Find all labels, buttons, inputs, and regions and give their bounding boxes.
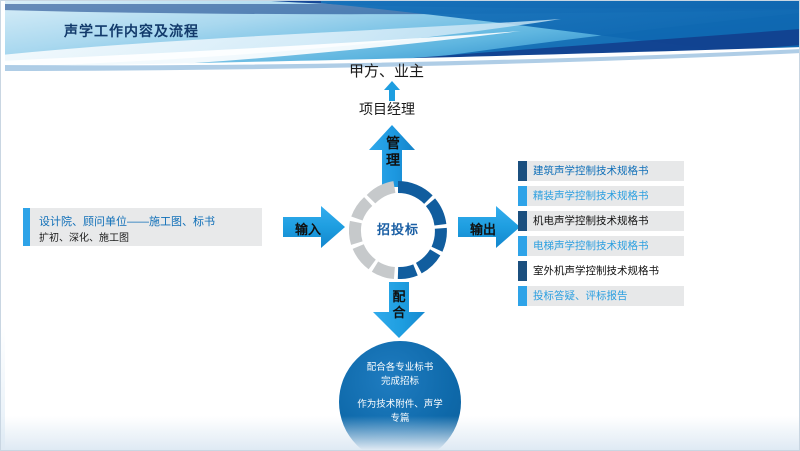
input-arrow-label: 输入 (286, 219, 330, 238)
output-list-item[interactable]: 精装声学控制技术规格书 (518, 186, 684, 206)
page-title: 声学工作内容及流程 (64, 21, 199, 41)
donut-center-label: 招投标 (349, 219, 447, 238)
output-item-marker-icon (518, 286, 527, 306)
output-list-item[interactable]: 电梯声学控制技术规格书 (518, 236, 684, 256)
output-list-item[interactable]: 室外机声学控制技术规格书 (518, 261, 684, 281)
output-item-marker-icon (518, 211, 527, 231)
output-item-label: 投标答疑、评标报告 (527, 286, 684, 306)
cooperation-line-4: 专篇 (390, 413, 409, 424)
input-card-line-2: 扩初、深化、施工图 (39, 229, 129, 244)
output-item-label: 电梯声学控制技术规格书 (527, 236, 684, 256)
management-arrow-label: 管理 (384, 135, 402, 169)
output-item-label: 建筑声学控制技术规格书 (527, 161, 684, 181)
cooperation-line-2: 完成招标 (381, 376, 419, 387)
cooperation-result-text: 配合各专业标书 完成招标 作为技术附件、声学 专篇 (339, 361, 461, 426)
output-item-marker-icon (518, 261, 527, 281)
input-card-line-1: 设计院、顾问单位——施工图、标书 (39, 213, 215, 229)
output-item-label: 室外机声学控制技术规格书 (527, 261, 684, 281)
output-item-marker-icon (518, 186, 527, 206)
cooperation-line-3: 作为技术附件、声学 (357, 399, 443, 410)
left-edge-rail (1, 1, 5, 451)
output-list-item[interactable]: 建筑声学控制技术规格书 (518, 161, 684, 181)
cooperation-line-1: 配合各专业标书 (367, 362, 434, 373)
slide-canvas: 声学工作内容及流程 甲方、业主 项目经理 管理 (0, 0, 800, 451)
project-manager-label: 项目经理 (359, 99, 415, 119)
output-item-label: 机电声学控制技术规格书 (527, 211, 684, 231)
output-item-marker-icon (518, 236, 527, 256)
output-item-label: 精装声学控制技术规格书 (527, 186, 684, 206)
output-list-item[interactable]: 投标答疑、评标报告 (518, 286, 684, 306)
input-source-card: 设计院、顾问单位——施工图、标书 扩初、深化、施工图 (23, 208, 262, 246)
text-gap (339, 389, 461, 398)
output-item-marker-icon (518, 161, 527, 181)
output-list-item[interactable]: 机电声学控制技术规格书 (518, 211, 684, 231)
cooperation-arrow-label: 配合 (390, 289, 408, 321)
arrow-up-small-icon (383, 81, 401, 101)
output-deliverables-list: 建筑声学控制技术规格书精装声学控制技术规格书机电声学控制技术规格书电梯声学控制技… (518, 161, 684, 311)
output-arrow-label: 输出 (461, 219, 505, 238)
input-card-accent-bar (23, 208, 30, 246)
client-owner-label: 甲方、业主 (349, 60, 424, 81)
